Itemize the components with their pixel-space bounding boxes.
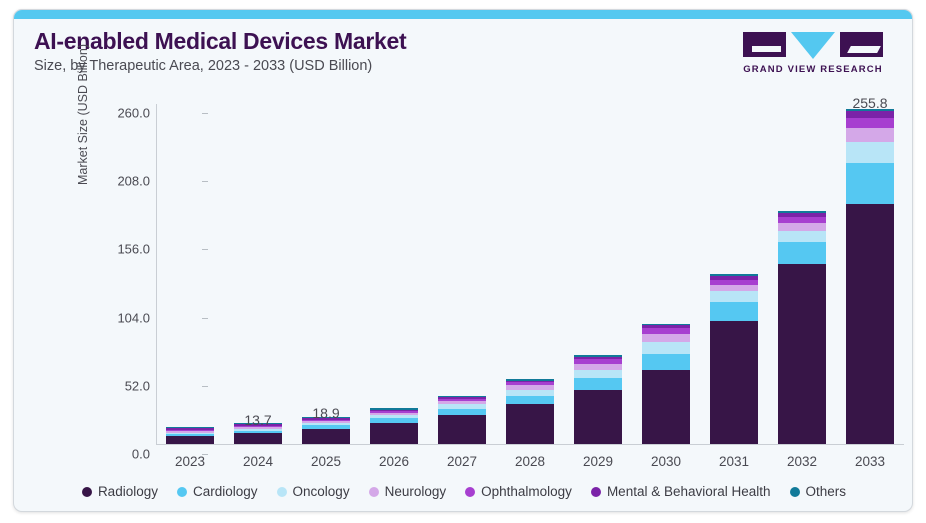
y-axis-tick-label: 208.0 <box>70 174 150 189</box>
legend-label: Ophthalmology <box>481 484 572 499</box>
bar-segment-cardiology[interactable] <box>642 354 690 370</box>
x-axis-tick-label: 2033 <box>830 454 910 469</box>
chart-legend: RadiologyCardiologyOncologyNeurologyOpht… <box>14 484 913 499</box>
bar-segment-neurology[interactable] <box>778 223 826 231</box>
bar-segment-radiology[interactable] <box>846 204 894 444</box>
bar-segment-oncology[interactable] <box>642 342 690 354</box>
y-axis-ticks: 0.052.0104.0156.0208.0260.0 <box>66 10 150 512</box>
bar-2023[interactable] <box>166 427 214 444</box>
bar-segment-oncology[interactable] <box>778 231 826 242</box>
bar-2028[interactable] <box>506 379 554 444</box>
bar-2026[interactable] <box>370 408 418 444</box>
bar-segment-radiology[interactable] <box>506 404 554 444</box>
bar-segment-mental-behavioral-health[interactable] <box>846 111 894 118</box>
legend-swatch-icon <box>277 487 287 497</box>
bar-segment-ophthalmology[interactable] <box>846 118 894 128</box>
legend-label: Radiology <box>98 484 158 499</box>
legend-item-oncology[interactable]: Oncology <box>277 484 350 499</box>
bar-segment-cardiology[interactable] <box>778 242 826 264</box>
legend-swatch-icon <box>591 487 601 497</box>
legend-item-radiology[interactable]: Radiology <box>82 484 158 499</box>
bar-value-label: 18.9 <box>281 405 371 421</box>
bar-value-label: 255.8 <box>825 95 913 111</box>
bar-segment-cardiology[interactable] <box>574 378 622 390</box>
bar-segment-radiology[interactable] <box>370 423 418 444</box>
chart-screenshot: AI-enabled Medical Devices Market Size, … <box>0 0 926 523</box>
bar-2030[interactable] <box>642 324 690 444</box>
y-axis-tick-label: 104.0 <box>70 310 150 325</box>
bar-segment-radiology[interactable] <box>438 415 486 444</box>
legend-label: Neurology <box>385 484 447 499</box>
legend-item-neurology[interactable]: Neurology <box>369 484 447 499</box>
chart-plot-area: Market Size (USD Billion) 0.052.0104.015… <box>14 10 913 512</box>
bar-2031[interactable] <box>710 274 758 444</box>
y-axis-tick-label: 260.0 <box>70 106 150 121</box>
y-axis-tick-label: 52.0 <box>70 378 150 393</box>
chart-card: AI-enabled Medical Devices Market Size, … <box>13 9 913 512</box>
bar-segment-radiology[interactable] <box>710 321 758 444</box>
bar-segment-cardiology[interactable] <box>846 163 894 204</box>
legend-swatch-icon <box>82 487 92 497</box>
bar-segment-radiology[interactable] <box>234 433 282 444</box>
bar-segment-oncology[interactable] <box>846 142 894 163</box>
bar-segment-oncology[interactable] <box>710 291 758 301</box>
bar-2032[interactable] <box>778 211 826 444</box>
bar-segment-neurology[interactable] <box>846 128 894 142</box>
bar-segment-radiology[interactable] <box>642 370 690 444</box>
legend-label: Oncology <box>293 484 350 499</box>
bar-segment-radiology[interactable] <box>574 390 622 444</box>
legend-swatch-icon <box>465 487 475 497</box>
bar-2027[interactable] <box>438 396 486 444</box>
y-axis-tick-label: 156.0 <box>70 242 150 257</box>
bar-segment-radiology[interactable] <box>302 429 350 444</box>
bar-2029[interactable] <box>574 355 622 444</box>
bar-segment-oncology[interactable] <box>574 370 622 378</box>
legend-swatch-icon <box>369 487 379 497</box>
legend-swatch-icon <box>177 487 187 497</box>
bar-2033[interactable] <box>846 109 894 444</box>
legend-item-ophthalmology[interactable]: Ophthalmology <box>465 484 572 499</box>
legend-label: Cardiology <box>193 484 258 499</box>
bar-segment-cardiology[interactable] <box>506 396 554 404</box>
bar-segment-radiology[interactable] <box>166 436 214 444</box>
bar-segment-neurology[interactable] <box>642 334 690 342</box>
bar-series-container: 202313.7202418.9202520262027202820292030… <box>156 10 904 512</box>
legend-label: Others <box>806 484 847 499</box>
legend-swatch-icon <box>790 487 800 497</box>
legend-label: Mental & Behavioral Health <box>607 484 771 499</box>
legend-item-mental-behavioral-health[interactable]: Mental & Behavioral Health <box>591 484 771 499</box>
legend-item-others[interactable]: Others <box>790 484 847 499</box>
y-axis-tick-label: 0.0 <box>70 447 150 462</box>
bar-segment-radiology[interactable] <box>778 264 826 444</box>
legend-item-cardiology[interactable]: Cardiology <box>177 484 258 499</box>
bar-segment-cardiology[interactable] <box>710 302 758 321</box>
